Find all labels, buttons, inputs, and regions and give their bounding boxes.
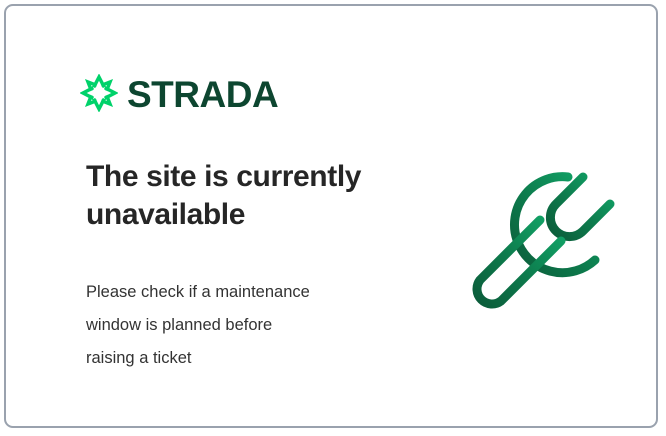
error-card: STRADA The site is currently unavailable… [4, 4, 658, 428]
page-title: The site is currently unavailable [86, 158, 416, 234]
message-body-line: raising a ticket [86, 342, 406, 375]
message-body: Please check if a maintenance window is … [86, 276, 406, 375]
brand-lockup: STRADA [80, 74, 278, 112]
wrench-icon [458, 158, 622, 318]
brand-wordmark: STRADA [127, 76, 278, 113]
message-body-line: Please check if a maintenance [86, 276, 406, 309]
message-body-line: window is planned before [86, 309, 406, 342]
strada-asterisk-icon [80, 74, 118, 112]
